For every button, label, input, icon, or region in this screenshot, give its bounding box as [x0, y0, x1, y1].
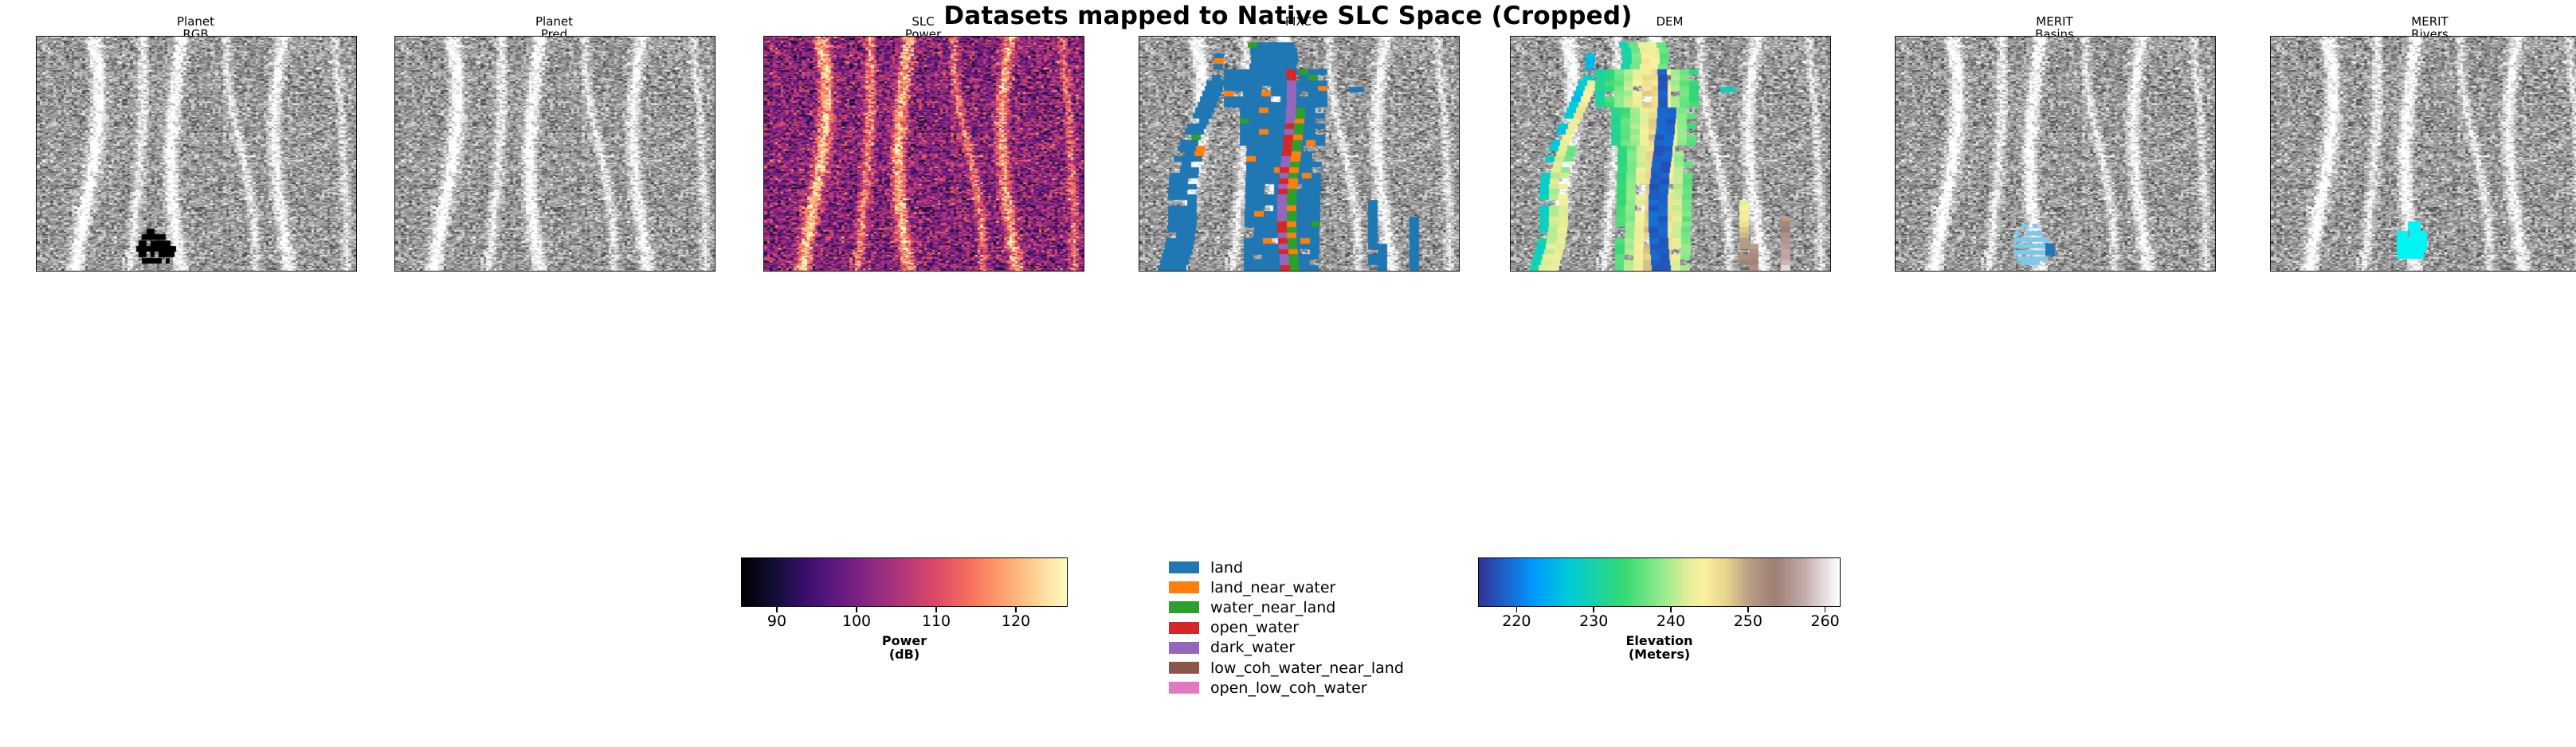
legend-swatch-open_water: [1169, 622, 1199, 634]
legend-label: low_coh_water_near_land: [1210, 659, 1404, 677]
panel-title-pixc: PIXC: [1139, 16, 1458, 29]
panel-title-dem: DEM: [1510, 16, 1829, 29]
legend-swatch-low_coh_water_near_land: [1169, 662, 1199, 674]
power-colorbar-ticks: 90100110120: [741, 607, 1068, 634]
tick-mark: [856, 607, 857, 612]
tick-mark: [776, 607, 778, 612]
tick-label: 220: [1502, 612, 1531, 630]
legend-swatch-water_near_land: [1169, 601, 1199, 613]
legend-swatch-land: [1169, 561, 1199, 573]
tick-mark: [1593, 607, 1594, 612]
tick-label: 240: [1657, 612, 1685, 630]
legend-swatch-open_low_coh_water: [1169, 682, 1199, 694]
tick-label: 120: [1002, 612, 1030, 630]
legend-item-low_coh_water_near_land[interactable]: low_coh_water_near_land: [1169, 658, 1432, 678]
tick-label: 90: [767, 612, 786, 630]
tick-label: 230: [1579, 612, 1608, 630]
legend-item-open_low_coh_water[interactable]: open_low_coh_water: [1169, 678, 1432, 698]
panel-image-merit-basins[interactable]: [1895, 36, 2216, 272]
panel-image-slc-power[interactable]: [763, 36, 1084, 272]
legend-swatch-dark_water: [1169, 642, 1199, 654]
legend-item-land_near_water[interactable]: land_near_water: [1169, 577, 1432, 597]
tick-mark: [1015, 607, 1017, 612]
tick-label: 110: [922, 612, 951, 630]
elevation-colorbar-ticks: 220230240250260: [1478, 607, 1841, 634]
tick-mark: [1747, 607, 1749, 612]
panel-image-dem[interactable]: [1510, 36, 1831, 272]
tick-mark: [935, 607, 937, 612]
legend-label: open_water: [1210, 619, 1299, 636]
legend-label: land: [1210, 559, 1243, 577]
legend-item-land[interactable]: land: [1169, 557, 1432, 577]
figure-canvas: Datasets mapped to Native SLC Space (Cro…: [0, 0, 2576, 747]
legend-item-dark_water[interactable]: dark_water: [1169, 638, 1432, 658]
legend-label: open_low_coh_water: [1210, 679, 1367, 697]
pixc-class-legend: landland_near_waterwater_near_landopen_w…: [1169, 557, 1432, 698]
tick-label: 250: [1734, 612, 1762, 630]
power-colorbar-label: Power (dB): [741, 634, 1068, 661]
tick-mark: [1670, 607, 1672, 612]
elevation-colorbar-gradient: [1478, 557, 1841, 607]
panel-image-pixc[interactable]: [1139, 36, 1460, 272]
panel-image-planet-pred[interactable]: [394, 36, 716, 272]
tick-mark: [1825, 607, 1826, 612]
tick-label: 260: [1810, 612, 1839, 630]
tick-label: 100: [842, 612, 871, 630]
legend-label: land_near_water: [1210, 579, 1335, 596]
power-colorbar-gradient: [741, 557, 1068, 607]
legend-label: water_near_land: [1210, 599, 1335, 616]
legend-item-open_water[interactable]: open_water: [1169, 618, 1432, 638]
panel-image-merit-rivers[interactable]: [2270, 36, 2576, 272]
panel-image-planet-rgb[interactable]: [36, 36, 357, 272]
legend-item-water_near_land[interactable]: water_near_land: [1169, 597, 1432, 617]
legend-swatch-land_near_water: [1169, 581, 1199, 593]
legend-label: dark_water: [1210, 639, 1295, 656]
tick-mark: [1516, 607, 1518, 612]
elevation-colorbar-label: Elevation (Meters): [1478, 634, 1841, 661]
